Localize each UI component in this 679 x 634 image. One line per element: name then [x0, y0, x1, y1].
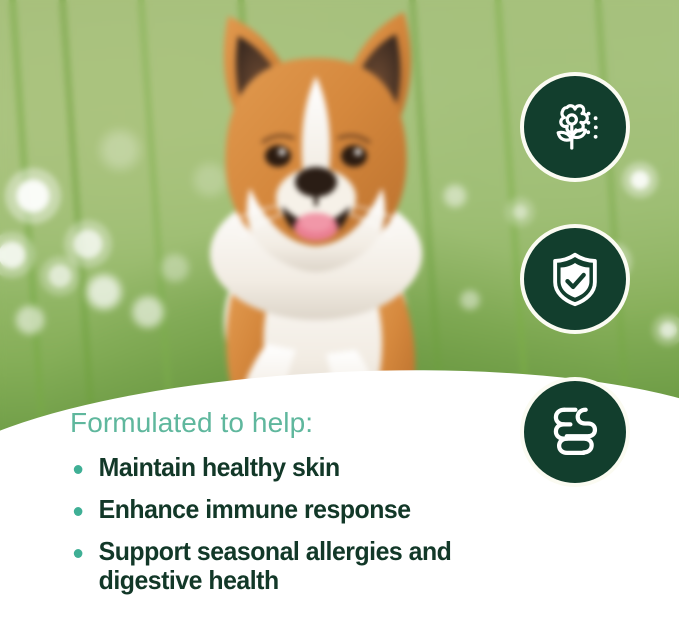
list-item: Enhance immune response	[70, 495, 519, 524]
bullet-dot-icon	[74, 507, 83, 516]
corgi-dog-illustration	[120, 0, 520, 412]
badge-digestive-health	[520, 377, 630, 487]
bullet-dot-icon	[74, 465, 83, 474]
eyebrow-heading: Formulated to help:	[70, 408, 540, 439]
flower-pollen-icon	[543, 95, 607, 159]
list-item: Support seasonal allergies and digestive…	[70, 537, 519, 595]
benefits-list: Maintain healthy skin Enhance immune res…	[70, 453, 540, 595]
bullet-dot-icon	[74, 549, 83, 558]
benefit-label: Support seasonal allergies and digestive…	[99, 536, 452, 595]
product-feature-card: Formulated to help: Maintain healthy ski…	[0, 0, 679, 634]
list-item: Maintain healthy skin	[70, 453, 519, 482]
benefit-label: Enhance immune response	[99, 494, 411, 524]
benefit-label: Maintain healthy skin	[99, 452, 340, 482]
intestine-icon	[544, 401, 606, 463]
badge-immune-support	[520, 224, 630, 334]
benefits-copy-block: Formulated to help: Maintain healthy ski…	[70, 408, 540, 608]
badge-seasonal-allergies	[520, 72, 630, 182]
shield-check-icon	[544, 248, 606, 310]
